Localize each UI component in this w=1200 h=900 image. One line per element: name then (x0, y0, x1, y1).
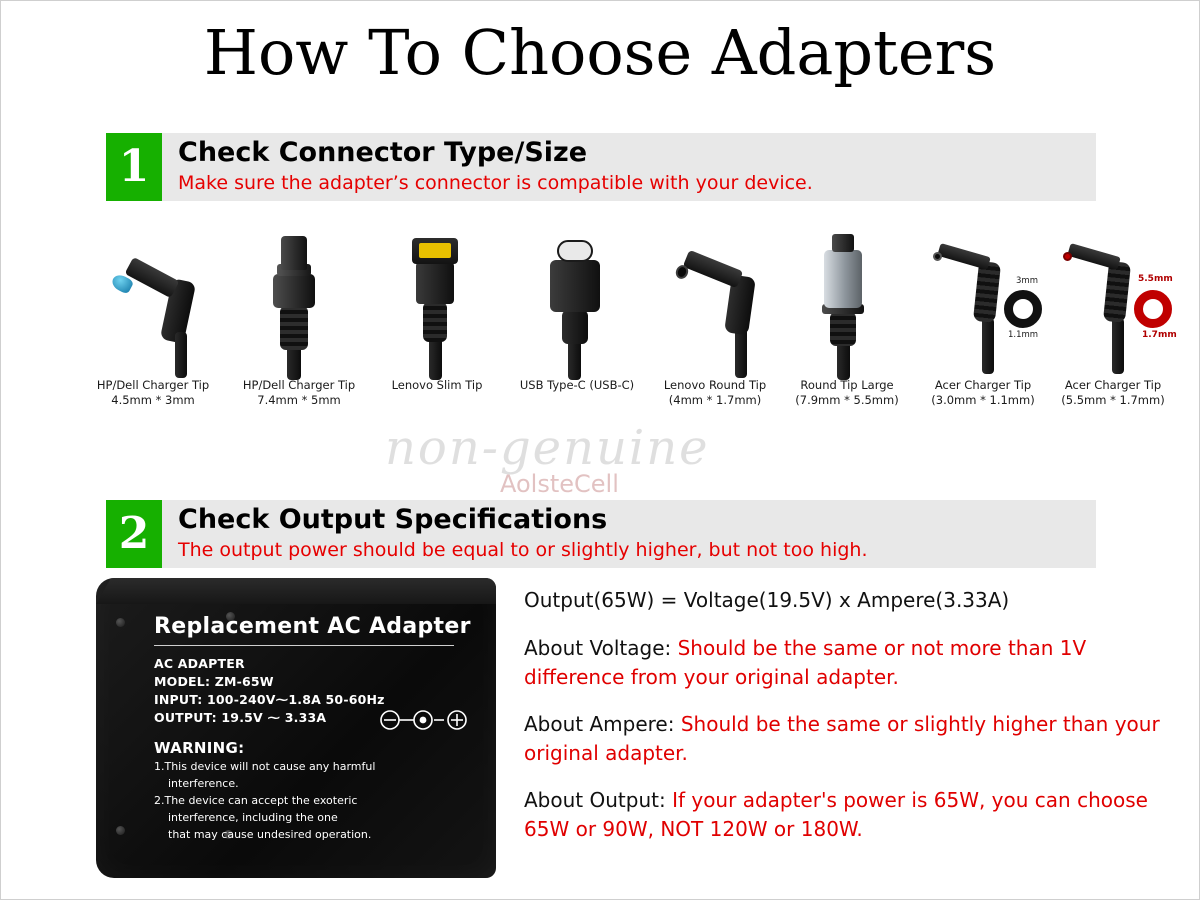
adapter-label-warning-5: that may cause undesired operation. (154, 827, 484, 842)
adapter-label-model: MODEL: ZM-65W (154, 673, 484, 691)
section-text-2: Check Output Specifications The output p… (162, 500, 1096, 568)
section-title-2: Check Output Specifications (178, 505, 1096, 535)
page-title: How To Choose Adapters (0, 18, 1200, 88)
output-formula: Output(65W) = Voltage(19.5V) x Ampere(3.… (524, 588, 1164, 612)
connector-size-1: 4.5mm * 3mm (78, 393, 228, 408)
lenovo-slim-rectangular-icon (362, 228, 512, 378)
connector-name-6: Round Tip Large (772, 378, 922, 393)
connector-item-1: HP/Dell Charger Tip 4.5mm * 3mm (78, 228, 228, 408)
spec-label-ampere: About Ampere: (524, 712, 674, 736)
adapter-label-input: INPUT: 100-240V⁓1.8A 50-60Hz (154, 691, 484, 709)
connector-name-8: Acer Charger Tip (1038, 378, 1188, 393)
connector-size-7: (3.0mm * 1.1mm) (908, 393, 1058, 408)
connector-size-5: (4mm * 1.7mm) (640, 393, 790, 408)
adapter-label-warning-1: 1.This device will not cause any harmful (154, 759, 484, 774)
screw-icon (116, 826, 125, 835)
acer-charger-55-icon: 5.5mm 1.7mm (1038, 228, 1188, 378)
connector-gallery: HP/Dell Charger Tip 4.5mm * 3mm HP/Dell … (60, 228, 1150, 438)
section-number-1: 1 (106, 133, 162, 201)
adapter-label-warning-2: interference. (154, 776, 484, 791)
adapter-label: Replacement AC Adapter AC ADAPTER MODEL:… (154, 614, 484, 842)
adapter-photo: Replacement AC Adapter AC ADAPTER MODEL:… (96, 578, 496, 878)
spec-item-voltage: About Voltage: Should be the same or not… (524, 634, 1164, 692)
connector-item-3: Lenovo Slim Tip (362, 228, 512, 393)
spec-label-voltage: About Voltage: (524, 636, 671, 660)
page-root: How To Choose Adapters 1 Check Connector… (0, 0, 1200, 900)
connector-item-2: HP/Dell Charger Tip 7.4mm * 5mm (224, 228, 374, 408)
section-subtitle-1: Make sure the adapter’s connector is com… (178, 170, 1096, 196)
connector-name-7: Acer Charger Tip (908, 378, 1058, 393)
connector-size-6: (7.9mm * 5.5mm) (772, 393, 922, 408)
watermark-primary: non-genuine (385, 420, 710, 476)
section-header-2: 2 Check Output Specifications The output… (106, 500, 1096, 568)
acer-charger-30-icon: 3mm 1.1mm (908, 228, 1058, 378)
hp-dell-74-barrel-icon (224, 228, 374, 378)
section-text-1: Check Connector Type/Size Make sure the … (162, 133, 1096, 201)
output-spec-text: Output(65W) = Voltage(19.5V) x Ampere(3.… (524, 588, 1164, 862)
adapter-label-divider (154, 645, 454, 646)
connector-name-2: HP/Dell Charger Tip (224, 378, 374, 393)
section-number-2: 2 (106, 500, 162, 568)
connector-name-5: Lenovo Round Tip (640, 378, 790, 393)
connector-size-2: 7.4mm * 5mm (224, 393, 374, 408)
spec-item-output: About Output: If your adapter's power is… (524, 786, 1164, 844)
section-title-1: Check Connector Type/Size (178, 138, 1096, 168)
dimension-ring-large-icon (1134, 290, 1172, 328)
lenovo-round-barrel-icon (640, 228, 790, 378)
dimension-inner-small: 1.1mm (1008, 330, 1038, 340)
connector-size-8: (5.5mm * 1.7mm) (1038, 393, 1188, 408)
center-positive-polarity-icon (378, 710, 474, 730)
connector-name-1: HP/Dell Charger Tip (78, 378, 228, 393)
round-tip-large-icon (772, 228, 922, 378)
spec-label-output: About Output: (524, 788, 666, 812)
adapter-label-type: AC ADAPTER (154, 655, 484, 673)
spec-item-ampere: About Ampere: Should be the same or slig… (524, 710, 1164, 768)
section-subtitle-2: The output power should be equal to or s… (178, 537, 1096, 563)
connector-name-3: Lenovo Slim Tip (362, 378, 512, 393)
dimension-outer-small: 3mm (1016, 276, 1038, 286)
hp-dell-45-barrel-icon (78, 228, 228, 378)
connector-item-4: USB Type-C (USB-C) (502, 228, 652, 393)
adapter-top-face (96, 578, 496, 604)
connector-name-4: USB Type-C (USB-C) (502, 378, 652, 393)
adapter-label-warning-3: 2.The device can accept the exoteric (154, 793, 484, 808)
section-header-1: 1 Check Connector Type/Size Make sure th… (106, 133, 1096, 201)
dimension-ring-small-icon (1004, 290, 1042, 328)
connector-item-8: 5.5mm 1.7mm Acer Charger Tip (5.5mm * 1.… (1038, 228, 1188, 408)
screw-icon (116, 618, 125, 627)
connector-item-5: Lenovo Round Tip (4mm * 1.7mm) (640, 228, 790, 408)
watermark-secondary: AolsteCell (500, 470, 619, 498)
adapter-label-warning-4: interference, including the one (154, 810, 484, 825)
usb-type-c-icon (502, 228, 652, 378)
adapter-label-warning-title: WARNING: (154, 739, 484, 757)
connector-item-7: 3mm 1.1mm Acer Charger Tip (3.0mm * 1.1m… (908, 228, 1058, 408)
adapter-label-title: Replacement AC Adapter (154, 614, 484, 639)
dimension-outer-large: 5.5mm (1138, 274, 1173, 284)
dimension-inner-large: 1.7mm (1142, 330, 1177, 340)
connector-item-6: Round Tip Large (7.9mm * 5.5mm) (772, 228, 922, 408)
